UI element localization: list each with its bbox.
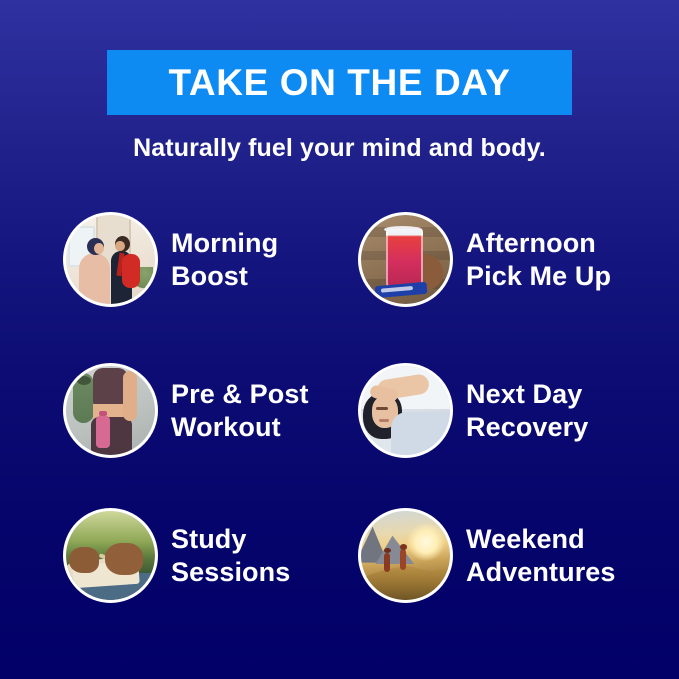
use-case-item-pre-and-post-workout: Pre & Post Workout — [63, 363, 309, 458]
use-case-item-afternoon-pick-me-up: Afternoon Pick Me Up — [358, 212, 611, 307]
pink-drink-glass-with-stick-pack-photo — [358, 212, 453, 307]
use-case-label: Next Day Recovery — [466, 378, 588, 444]
headline-banner: TAKE ON THE DAY — [107, 50, 572, 115]
use-case-label: Afternoon Pick Me Up — [466, 227, 611, 293]
use-case-item-weekend-adventures: Weekend Adventures — [358, 508, 616, 603]
use-case-label: Study Sessions — [171, 523, 290, 589]
person-resting-in-bed-photo — [358, 363, 453, 458]
use-case-grid: Morning Boost Afternoon Pick Me Up Pr — [0, 206, 679, 616]
woman-with-yoga-mat-and-water-bottle-photo — [63, 363, 158, 458]
use-case-item-morning-boost: Morning Boost — [63, 212, 278, 307]
use-case-item-next-day-recovery: Next Day Recovery — [358, 363, 588, 458]
hands-writing-notes-outdoors-photo — [63, 508, 158, 603]
use-case-item-study-sessions: Study Sessions — [63, 508, 290, 603]
hikers-on-mountain-ridge-at-sunset-photo — [358, 508, 453, 603]
promo-poster: TAKE ON THE DAY Naturally fuel your mind… — [0, 0, 679, 679]
use-case-label: Morning Boost — [171, 227, 278, 293]
headline-title: TAKE ON THE DAY — [168, 64, 510, 101]
subtitle-text: Naturally fuel your mind and body. — [0, 133, 679, 163]
use-case-label: Weekend Adventures — [466, 523, 616, 589]
use-case-label: Pre & Post Workout — [171, 378, 309, 444]
mother-and-child-with-backpack-photo — [63, 212, 158, 307]
